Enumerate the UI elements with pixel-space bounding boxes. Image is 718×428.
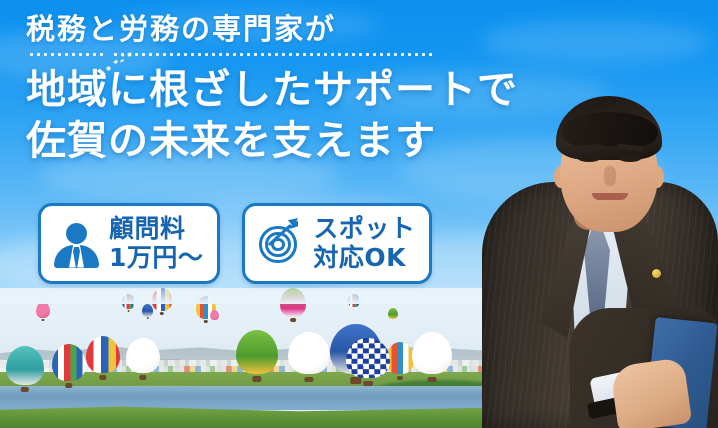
balloon-envelope	[36, 302, 50, 318]
balloon	[36, 302, 50, 321]
target-arrow-icon	[257, 219, 303, 269]
hair	[556, 96, 662, 160]
headline-line-2: 地域に根ざしたサポートで	[26, 65, 518, 116]
balloon-basket	[139, 375, 146, 380]
balloon-envelope	[288, 332, 330, 374]
balloon	[236, 330, 278, 382]
balloon	[346, 338, 390, 386]
badge-spot-support-text: スポット 対応OK	[313, 215, 415, 272]
balloon-basket	[204, 320, 208, 323]
badge-spot-support[interactable]: スポット 対応OK	[242, 203, 432, 284]
balloon-envelope	[346, 338, 390, 378]
mouth	[592, 193, 628, 200]
balloon	[412, 332, 452, 382]
badge-group: 顧問料 1万円〜 スポット 対応OK	[38, 203, 432, 284]
balloon-basket	[397, 376, 403, 380]
nose	[604, 166, 616, 186]
headline-line-1: 税務と労務の専門家が	[26, 12, 518, 46]
balloon-basket	[99, 375, 106, 380]
balloon-basket	[304, 377, 313, 383]
businessman-icon	[53, 219, 99, 269]
dotted-underline-right	[112, 53, 432, 56]
balloon-envelope	[126, 338, 160, 373]
balloon-envelope	[210, 310, 219, 320]
businessman-head	[66, 223, 87, 244]
eye-right	[619, 155, 641, 162]
balloon	[288, 332, 330, 382]
balloon-envelope	[86, 336, 120, 373]
balloon	[126, 338, 160, 380]
balloon-basket	[290, 318, 296, 322]
balloon-envelope	[52, 344, 86, 381]
balloon-basket	[127, 310, 130, 312]
balloon-envelope	[388, 308, 398, 319]
balloon	[388, 308, 398, 321]
balloon-envelope	[236, 330, 278, 374]
balloon	[52, 344, 86, 388]
balloon-basket	[41, 319, 44, 321]
balloon-basket	[65, 383, 72, 388]
balloon-envelope	[6, 346, 44, 385]
arrow-shaft	[268, 224, 293, 247]
dotted-underline-left	[28, 53, 104, 56]
hero-banner: 税務と労務の専門家が 地域に根ざしたサポートで 佐賀の未来を支えます 顧問料 1…	[0, 0, 718, 428]
badge-advisory-fee-text: 顧問料 1万円〜	[109, 215, 203, 272]
eye-left	[578, 155, 600, 162]
lapel-pin	[652, 269, 661, 278]
balloon-basket	[428, 377, 437, 383]
balloon-envelope	[386, 342, 414, 374]
balloon-basket	[21, 387, 29, 392]
balloon-basket	[146, 317, 148, 319]
arrow	[270, 217, 302, 249]
balloon	[210, 310, 219, 322]
headline-block: 税務と労務の専門家が 地域に根ざしたサポートで 佐賀の未来を支えます	[26, 12, 518, 168]
balloon-basket	[363, 381, 373, 386]
headline-line-3: 佐賀の未来を支えます	[26, 116, 518, 167]
badge-advisory-fee[interactable]: 顧問料 1万円〜	[38, 203, 220, 284]
badge-advisory-fee-line-1: 顧問料	[109, 214, 186, 243]
badge-advisory-fee-line-2: 1万円〜	[109, 244, 203, 273]
balloon	[6, 346, 44, 392]
dotted-underline	[28, 49, 432, 63]
balloon-basket	[160, 312, 164, 315]
badge-spot-support-line-1: スポット	[313, 214, 415, 243]
balloon	[86, 336, 120, 380]
balloon-envelope	[412, 332, 452, 374]
badge-spot-support-line-2: 対応OK	[313, 244, 415, 273]
balloon	[386, 342, 414, 380]
balloon-basket	[252, 376, 261, 382]
